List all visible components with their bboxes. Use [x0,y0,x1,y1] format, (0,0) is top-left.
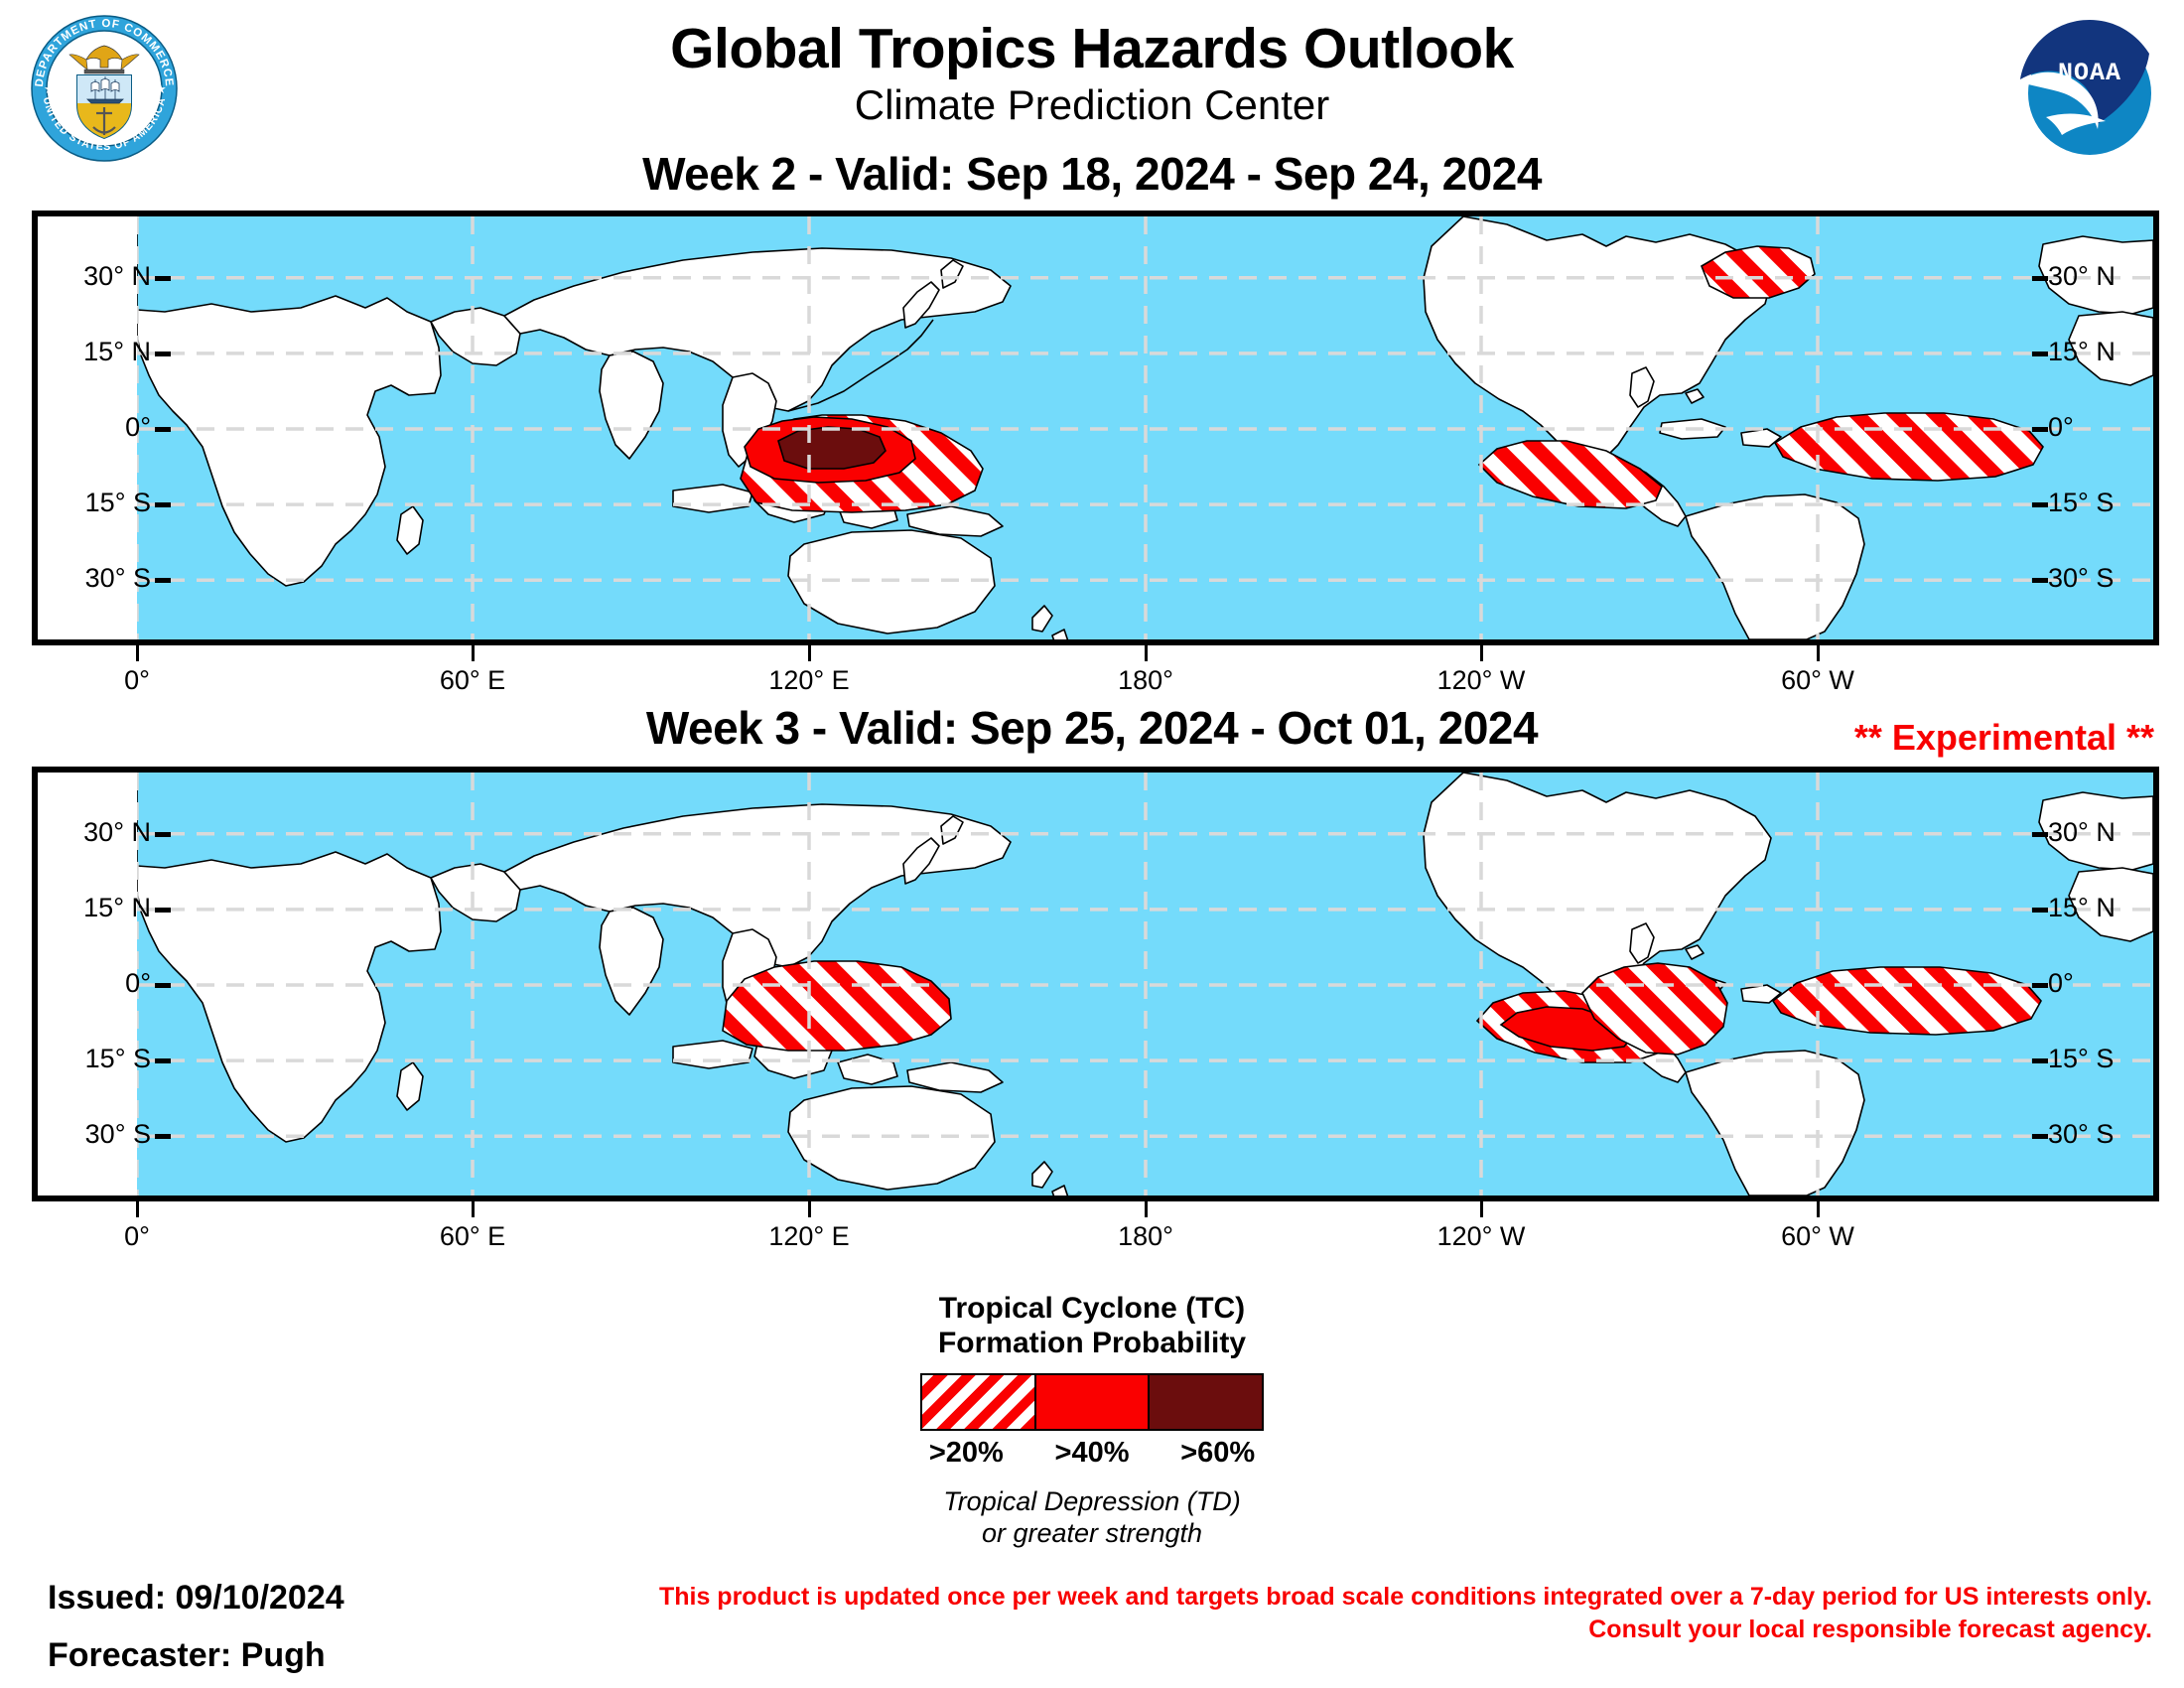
week2-ytick-left-1 [155,352,171,356]
week3-ytick-right-1 [2032,908,2048,913]
week3-ytick-right-4 [2032,1134,2048,1139]
week3-xlabel-1: 60° E [393,1221,552,1252]
week2-xtick-1 [472,645,475,661]
disclaimer: This product is updated once per week an… [659,1581,2152,1646]
legend-color-bar [920,1373,1264,1431]
week2-ytick-right-2 [2032,427,2048,432]
week3-ylabel-right-0: 30° N [2048,817,2157,848]
week3-xtick-2 [808,1201,811,1217]
week3-ytick-left-3 [155,1058,171,1063]
legend-tick-20: >20% [903,1437,1029,1470]
week3-ytick-left-4 [155,1134,171,1139]
week3-xtick-0 [136,1201,139,1217]
week2-ylabel-left-4: 30° S [52,563,151,594]
page-subtitle: Climate Prediction Center [0,81,2184,129]
week2-xlabel-1: 60° E [393,665,552,696]
week2-xtick-0 [136,645,139,661]
week3-xlabel-2: 120° E [730,1221,888,1252]
forecaster-name: Forecaster: Pugh [48,1636,326,1675]
legend-swatch-20 [922,1375,1034,1429]
legend-tick-60: >60% [1155,1437,1281,1470]
week3-ylabel-left-1: 15° N [52,893,151,923]
week3-ytick-left-2 [155,983,171,988]
week3-ylabel-right-3: 15° S [2048,1044,2157,1074]
week3-ylabel-left-2: 0° [52,968,151,999]
legend-swatch-40 [1034,1375,1149,1429]
week2-ytick-right-4 [2032,578,2048,583]
week3-ytick-left-0 [155,832,171,837]
week2-ylabel-left-2: 0° [52,412,151,443]
week2-ylabel-right-3: 15° S [2048,488,2157,518]
week3-ylabel-left-0: 30° N [52,817,151,848]
week3-ylabel-right-1: 15° N [2048,893,2157,923]
week3-ytick-right-0 [2032,832,2048,837]
disclaimer-line1: This product is updated once per week an… [659,1581,2152,1614]
week2-xtick-5 [1817,645,1820,661]
week2-ytick-left-0 [155,276,171,281]
week3-map-svg [38,773,2153,1196]
week2-ylabel-right-1: 15° N [2048,337,2157,367]
week2-plot-area [38,216,2153,639]
week3-xtick-1 [472,1201,475,1217]
week3-xtick-4 [1480,1201,1483,1217]
legend-title-line1: Tropical Cyclone (TC) [0,1291,2184,1326]
week2-xlabel-0: 0° [58,665,216,696]
week3-map-panel[interactable] [32,767,2159,1201]
week2-map-svg [38,216,2153,639]
week3-ylabel-left-3: 15° S [52,1044,151,1074]
legend-tick-labels: >20% >40% >60% [903,1437,1281,1470]
week2-panel-title: Week 2 - Valid: Sep 18, 2024 - Sep 24, 2… [0,147,2184,201]
week2-ylabel-left-1: 15° N [52,337,151,367]
week2-ytick-left-3 [155,502,171,507]
week2-ylabel-right-0: 30° N [2048,261,2157,292]
legend-footnote-line2: or greater strength [0,1517,2184,1549]
week2-ytick-left-4 [155,578,171,583]
week2-xlabel-5: 60° W [1738,665,1897,696]
week2-xlabel-3: 180° [1066,665,1225,696]
week3-ylabel-right-4: 30° S [2048,1119,2157,1150]
week2-ytick-right-0 [2032,276,2048,281]
week2-xtick-3 [1145,645,1148,661]
w3-wpac-20 [723,961,951,1051]
legend: Tropical Cyclone (TC) Formation Probabil… [0,1291,2184,1550]
issued-date: Issued: 09/10/2024 [48,1579,344,1618]
legend-title-line2: Formation Probability [0,1326,2184,1360]
week3-xlabel-4: 120° W [1402,1221,1561,1252]
week2-map-panel[interactable] [32,211,2159,645]
legend-tick-40: >40% [1029,1437,1156,1470]
week2-xtick-2 [808,645,811,661]
w3-catl-20 [1773,967,2041,1035]
page-title: Global Tropics Hazards Outlook [0,16,2184,81]
week3-ylabel-right-2: 0° [2048,968,2157,999]
week3-xtick-5 [1817,1201,1820,1217]
week3-xlabel-3: 180° [1066,1221,1225,1252]
week2-ylabel-left-0: 30° N [52,261,151,292]
week3-ylabel-left-4: 30° S [52,1119,151,1150]
week2-xtick-4 [1480,645,1483,661]
w2-phisea-60 [778,427,886,469]
week3-xtick-3 [1145,1201,1148,1217]
week3-xlabel-5: 60° W [1738,1221,1897,1252]
week2-xlabel-4: 120° W [1402,665,1561,696]
legend-footnote-line1: Tropical Depression (TD) [0,1485,2184,1517]
week2-xlabel-2: 120° E [730,665,888,696]
week2-ytick-right-1 [2032,352,2048,356]
legend-swatch-60 [1148,1375,1262,1429]
week3-plot-area [38,773,2153,1196]
week3-ytick-left-1 [155,908,171,913]
week3-ytick-right-2 [2032,983,2048,988]
week2-ylabel-left-3: 15° S [52,488,151,518]
week2-ylabel-right-2: 0° [2048,412,2157,443]
week2-ylabel-right-4: 30° S [2048,563,2157,594]
week2-ytick-right-3 [2032,502,2048,507]
week3-xlabel-0: 0° [58,1221,216,1252]
week3-ytick-right-3 [2032,1058,2048,1063]
experimental-label: ** Experimental ** [1854,717,2154,759]
disclaimer-line2: Consult your local responsible forecast … [659,1614,2152,1646]
week2-ytick-left-2 [155,427,171,432]
